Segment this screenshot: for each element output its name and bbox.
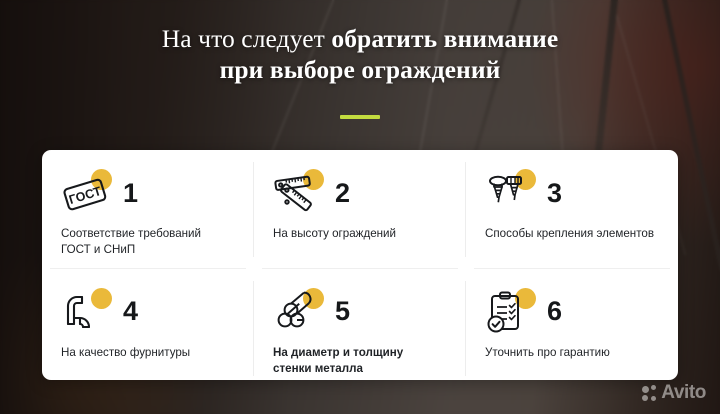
page-title-emphasis: обратить внимание	[331, 24, 558, 53]
feature-item-label: Соответствие требований ГОСТ и СНиП	[61, 226, 231, 259]
feature-item-number: 3	[547, 180, 562, 207]
page-title: На что следует обратить внимание при выб…	[0, 24, 720, 85]
feature-item-header: ГОСТ 1	[61, 167, 238, 219]
folding-ruler-icon	[273, 169, 325, 217]
feature-item-header: 2	[273, 167, 450, 219]
feature-item-header: 3	[485, 167, 662, 219]
feature-item-header: 6	[485, 286, 662, 338]
clipboard-check-icon	[485, 288, 537, 336]
pipe-elbow-icon	[61, 288, 113, 336]
screws-icon	[485, 169, 537, 217]
feature-item-2[interactable]: 2 На высоту ограждений	[254, 150, 466, 269]
avito-watermark-label: Avito	[661, 382, 706, 404]
feature-item-3[interactable]: 3 Способы крепления элементов	[466, 150, 678, 269]
avito-watermark: Avito	[642, 382, 706, 404]
feature-item-label: Уточнить про гарантию	[485, 345, 655, 361]
gost-certificate-icon: ГОСТ	[61, 169, 113, 217]
feature-item-header: 4	[61, 286, 238, 338]
feature-item-number: 1	[123, 180, 138, 207]
feature-item-number: 4	[123, 298, 138, 325]
title-accent-divider	[340, 115, 380, 119]
feature-item-label: На высоту ограждений	[273, 226, 443, 242]
stacked-pipes-icon	[273, 288, 325, 336]
feature-item-number: 5	[335, 298, 350, 325]
feature-item-number: 2	[335, 180, 350, 207]
feature-item-1[interactable]: ГОСТ 1 Соответствие требований ГОСТ и СН…	[42, 150, 254, 269]
feature-item-6[interactable]: 6 Уточнить про гарантию	[466, 269, 678, 380]
promo-banner: На что следует обратить внимание при выб…	[0, 0, 720, 414]
feature-item-header: 5	[273, 286, 450, 338]
page-title-normal: На что следует	[162, 24, 332, 53]
feature-item-4[interactable]: 4 На качество фурнитуры	[42, 269, 254, 380]
feature-item-label: На диаметр и толщину стенки металла	[273, 345, 443, 378]
page-title-line-1: На что следует обратить внимание	[0, 24, 720, 54]
feature-panel: ГОСТ 1 Соответствие требований ГОСТ и СН…	[42, 150, 678, 380]
feature-item-label: На качество фурнитуры	[61, 345, 231, 361]
avito-logo-icon	[642, 385, 657, 402]
feature-item-5[interactable]: 5 На диаметр и толщину стенки металла	[254, 269, 466, 380]
feature-item-number: 6	[547, 298, 562, 325]
feature-item-label: Способы крепления элементов	[485, 226, 655, 242]
page-title-line-2: при выборе ограждений	[0, 55, 720, 85]
